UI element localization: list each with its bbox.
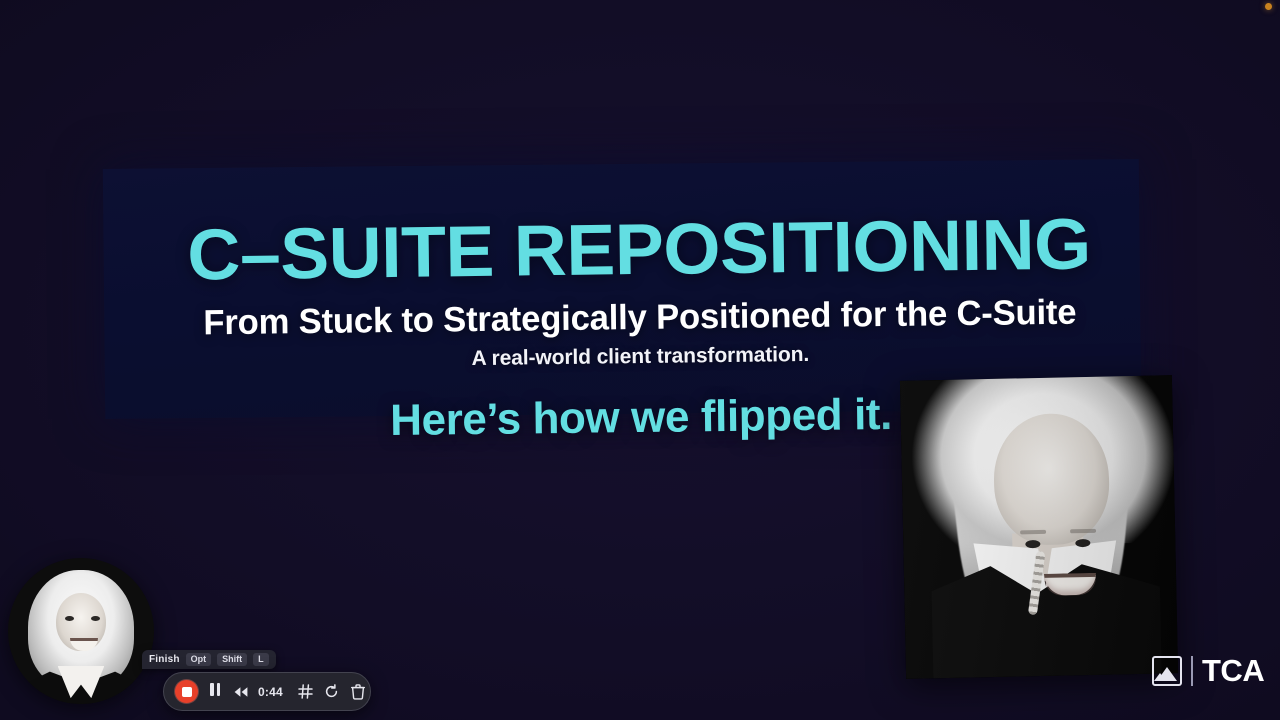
restart-icon (324, 684, 339, 699)
delete-button[interactable] (347, 681, 369, 703)
shortcut-key-l: L (253, 653, 269, 666)
webcam-bubble[interactable] (8, 558, 154, 704)
shortcut-key-opt: Opt (186, 653, 212, 666)
rewind-button[interactable] (230, 681, 252, 703)
tca-mountain-logo-icon (1152, 656, 1182, 686)
tca-divider (1191, 656, 1193, 686)
grid-icon (298, 684, 313, 699)
grid-button[interactable] (295, 681, 317, 703)
screen-capture-canvas: C–SUITE REPOSITIONING From Stuck to Stra… (0, 0, 1280, 720)
recorder-toolbar: 0:44 (163, 672, 371, 711)
tca-brand-lockup: TCA (1152, 655, 1264, 686)
pause-button[interactable] (204, 681, 226, 703)
portrait-grain-overlay (900, 375, 1178, 679)
tca-wordmark: TCA (1202, 655, 1264, 686)
restart-button[interactable] (321, 681, 343, 703)
trash-icon (351, 684, 365, 700)
finish-tooltip-label: Finish (149, 654, 180, 665)
finish-shortcut-tooltip: Finish Opt Shift L (142, 650, 276, 669)
rewind-icon (233, 686, 249, 698)
recording-indicator-dot (1265, 3, 1272, 10)
pause-icon (210, 683, 220, 701)
recording-timer: 0:44 (258, 685, 283, 699)
presenter-portrait-photo (900, 375, 1178, 679)
stop-recording-button[interactable] (175, 680, 198, 703)
webcam-eye-left (65, 616, 74, 621)
shortcut-key-shift: Shift (217, 653, 247, 666)
webcam-eye-right (91, 616, 100, 621)
stop-square-icon (182, 687, 192, 697)
